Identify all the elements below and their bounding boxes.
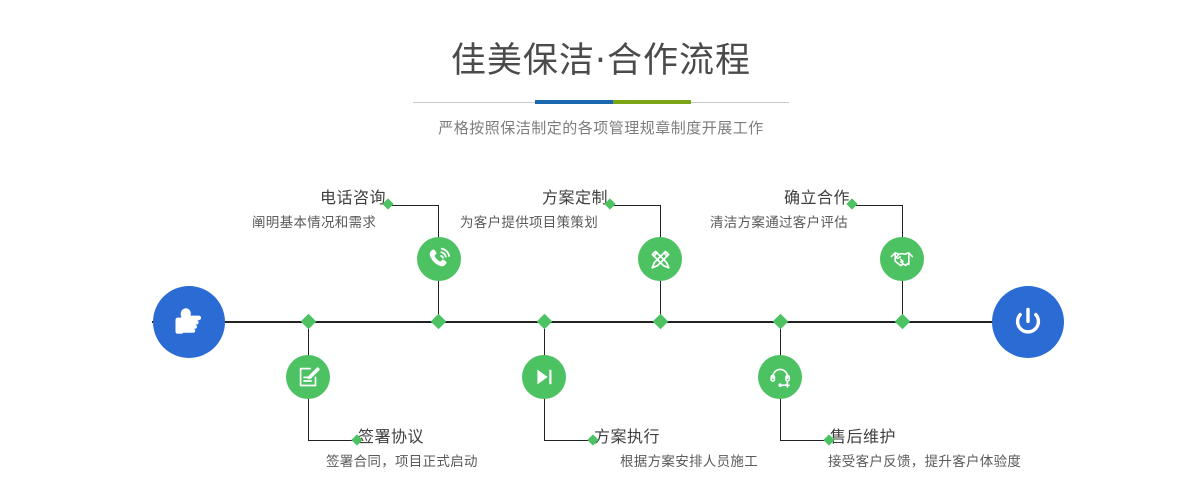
marker-step-2	[301, 314, 317, 330]
step-title-3: 方案定制	[542, 188, 608, 208]
connector-elbow-step-1	[389, 205, 439, 206]
marker-step-4	[537, 314, 553, 330]
infographic-canvas: 佳美保洁·合作流程 严格按照保洁制定的各项管理规章制度开展工作	[0, 0, 1202, 502]
step-title-6: 售后维护	[830, 427, 896, 447]
headset-support-icon	[768, 365, 793, 390]
marker-step-6	[773, 314, 789, 330]
node-icon-step-3[interactable]	[638, 237, 682, 281]
step-desc-6: 接受客户反馈，提升客户体验度	[828, 453, 1021, 472]
node-icon-step-1[interactable]	[417, 237, 461, 281]
step-title-2: 签署协议	[358, 427, 424, 447]
node-icon-step-5[interactable]	[880, 237, 924, 281]
node-icon-step-4[interactable]	[522, 355, 566, 399]
connector-elbow-step-3	[611, 205, 661, 206]
play-execute-icon	[532, 365, 556, 389]
step-desc-5: 清洁方案通过客户评估	[710, 214, 848, 233]
timeline-axis	[152, 321, 1050, 323]
flow-end-endpoint[interactable]	[992, 286, 1064, 358]
process-flow-diagram: 电话咨询 阐明基本情况和需求 签署协议 签署合同，项目正式启动	[0, 0, 1202, 502]
step-title-5: 确立合作	[784, 188, 850, 208]
node-icon-step-6[interactable]	[758, 355, 802, 399]
flow-start-endpoint[interactable]	[153, 286, 225, 358]
power-icon	[1009, 303, 1047, 341]
step-desc-2: 签署合同，项目正式启动	[326, 453, 478, 472]
step-title-4: 方案执行	[594, 427, 660, 447]
node-icon-step-2[interactable]	[286, 355, 330, 399]
hand-pointing-icon	[169, 302, 209, 342]
step-desc-4: 根据方案安排人员施工	[620, 453, 758, 472]
step-desc-3: 为客户提供项目策策划	[460, 214, 598, 233]
marker-step-1	[431, 314, 447, 330]
connector-elbow-step-5	[853, 205, 903, 206]
marker-step-5	[895, 314, 911, 330]
document-edit-icon	[296, 365, 321, 390]
step-desc-1: 阐明基本情况和需求	[252, 214, 376, 233]
phone-call-icon	[426, 246, 452, 272]
handshake-icon	[889, 246, 915, 272]
marker-step-3	[653, 314, 669, 330]
step-title-1: 电话咨询	[320, 188, 386, 208]
pencil-design-icon	[648, 247, 673, 272]
